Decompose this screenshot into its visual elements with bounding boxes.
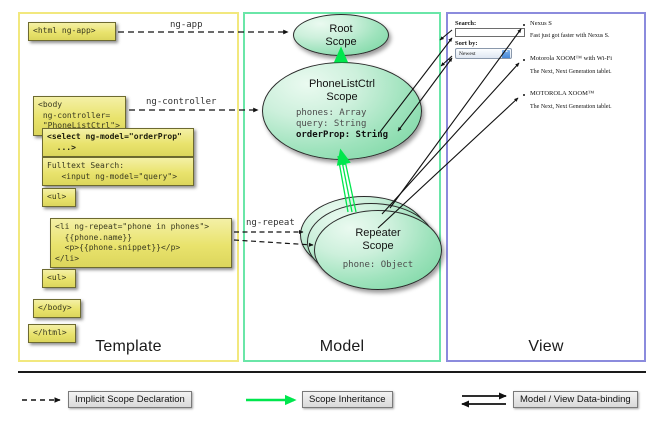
scope-phonelistctrl-props: phones: Array query: String orderProp: S… xyxy=(296,108,388,141)
code-box-li-ng-repeat: <li ng-repeat="phone in phones"> {{phone… xyxy=(50,218,232,268)
scope-root: Root Scope xyxy=(293,14,389,56)
view-search-input[interactable] xyxy=(455,28,525,37)
scope-repeater-title-line1: Repeater xyxy=(315,227,441,240)
column-view-label: View xyxy=(448,338,644,356)
legend-glyph-double-arrow xyxy=(462,396,506,404)
edge-label-ng-repeat: ng-repeat xyxy=(246,218,295,228)
legend-item-implicit-scope-declaration: Implicit Scope Declaration xyxy=(68,391,192,408)
scope-prop-orderprop: orderProp: String xyxy=(296,130,388,141)
legend-item-scope-inheritance: Scope Inheritance xyxy=(302,391,393,408)
legend-divider xyxy=(18,371,646,373)
legend-item-model-view-data-binding: Model / View Data-binding xyxy=(513,391,638,408)
column-view: View xyxy=(446,12,646,362)
scope-phonelistctrl-title-line2: Scope xyxy=(263,91,421,104)
code-box-select-tag: <select ng-model="orderProp" ...> xyxy=(42,128,194,157)
code-box-ul-open: <ul> xyxy=(42,188,76,207)
code-box-ul-close: <ul> xyxy=(42,269,76,288)
code-box-input-tag: Fulltext Search: <input ng-model="query"… xyxy=(42,157,194,186)
view-phone-name: MOTOROLA XOOM™ xyxy=(530,90,594,97)
list-bullet xyxy=(523,24,525,26)
view-phone-name: Nexus S xyxy=(530,20,552,27)
scope-phonelistctrl-title-line1: PhoneListCtrl xyxy=(263,78,421,91)
list-bullet xyxy=(523,59,525,61)
scope-phonelistctrl: PhoneListCtrl Scope phones: Array query:… xyxy=(262,62,422,160)
scope-root-title-line2: Scope xyxy=(294,36,388,49)
diagram-canvas: Template Model View <html ng-app> <body … xyxy=(0,0,661,425)
scope-repeater-props: phone: Object xyxy=(343,260,413,271)
view-sort-label: Sort by: xyxy=(455,40,478,47)
edge-label-ng-app: ng-app xyxy=(170,20,203,30)
scope-repeater-title-line2: Scope xyxy=(315,240,441,253)
scope-prop-phone: phone: Object xyxy=(343,260,413,271)
view-sort-selected-value: Newest xyxy=(459,51,476,57)
chevron-updown-icon[interactable]: ⇅ xyxy=(502,50,510,59)
scope-prop-phones: phones: Array xyxy=(296,108,388,119)
edge-label-ng-controller: ng-controller xyxy=(146,97,216,107)
view-sort-select[interactable]: Newest ⇅ xyxy=(455,48,512,59)
scope-repeater: Repeater Scope phone: Object xyxy=(314,210,442,290)
column-model-label: Model xyxy=(245,338,439,356)
code-box-body-close: </body> xyxy=(33,299,81,318)
scope-prop-query: query: String xyxy=(296,119,388,130)
code-box-html-close: </html> xyxy=(28,324,76,343)
list-bullet xyxy=(523,94,525,96)
view-phone-snippet: The Next, Next Generation tablet. xyxy=(530,69,612,75)
view-phone-snippet: Fast just got faster with Nexus S. xyxy=(530,33,610,39)
scope-root-title-line1: Root xyxy=(294,23,388,36)
view-phone-name: Motorola XOOM™ with Wi-Fi xyxy=(530,55,612,62)
code-box-html-tag: <html ng-app> xyxy=(28,22,116,41)
view-search-label: Search: xyxy=(455,20,476,27)
view-phone-snippet: The Next, Next Generation tablet. xyxy=(530,104,612,110)
